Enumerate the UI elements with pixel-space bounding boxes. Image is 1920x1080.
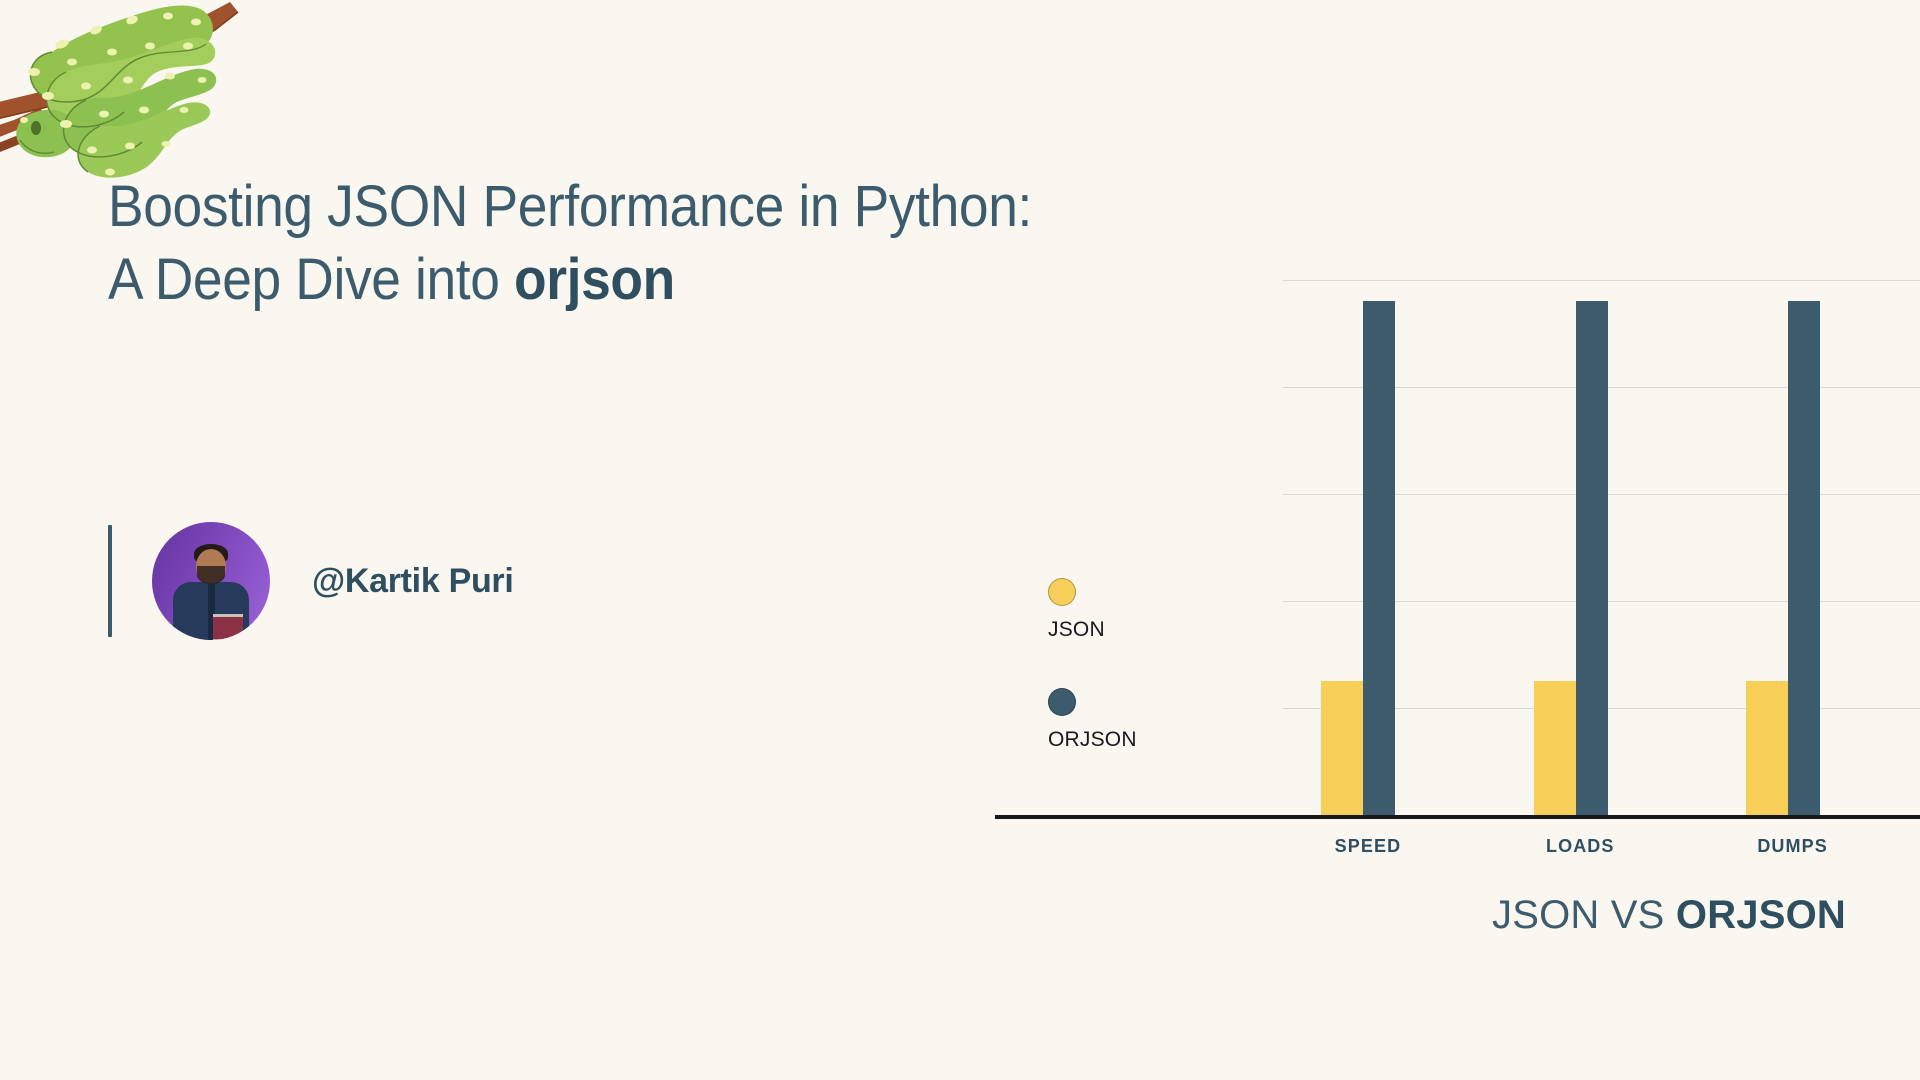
- author-credit: @Kartik Puri: [108, 522, 514, 640]
- chart-x-axis-line: [995, 815, 1920, 819]
- legend-label-orjson: ORJSON: [1048, 728, 1137, 752]
- python-snake-illustration: [0, 0, 300, 180]
- snake-body-shape: [16, 5, 216, 177]
- legend-item-orjson: ORJSON: [1048, 688, 1137, 752]
- bar-orjson-speed: [1363, 301, 1395, 815]
- avatar: [152, 522, 270, 640]
- chart-caption: JSON VS ORJSON: [1492, 893, 1846, 938]
- chart-legend: JSONORJSON: [1048, 578, 1137, 798]
- legend-swatch-json-icon: [1048, 578, 1076, 606]
- title-line-1: Boosting JSON Performance in Python:: [108, 170, 1138, 243]
- bar-json-speed: [1321, 681, 1363, 815]
- bar-group: [1534, 280, 1651, 815]
- title-line-2-prefix: A Deep Dive into: [108, 247, 514, 312]
- legend-item-json: JSON: [1048, 578, 1137, 642]
- x-tick-loads: LOADS: [1546, 836, 1615, 857]
- bar-orjson-loads: [1576, 301, 1608, 815]
- bar-group: [1746, 280, 1863, 815]
- legend-label-json: JSON: [1048, 618, 1137, 642]
- title-line-2: A Deep Dive into orjson: [108, 243, 1138, 316]
- avatar-book-shape: [213, 614, 243, 640]
- chart-bars: [1283, 280, 1920, 815]
- bar-group: [1321, 280, 1438, 815]
- bar-orjson-dumps: [1788, 301, 1820, 815]
- tree-branch-shape: [0, 2, 238, 152]
- bar-json-dumps: [1746, 681, 1788, 815]
- title-line-2-strong: orjson: [514, 247, 675, 312]
- chart-caption-prefix: JSON VS: [1492, 893, 1676, 937]
- bar-json-loads: [1534, 681, 1576, 815]
- avatar-beard-shape: [197, 566, 225, 584]
- accent-rule: [108, 525, 112, 637]
- legend-swatch-orjson-icon: [1048, 688, 1076, 716]
- chart-caption-strong: ORJSON: [1676, 893, 1846, 937]
- x-tick-dumps: DUMPS: [1757, 836, 1828, 857]
- author-handle: @Kartik Puri: [312, 562, 514, 601]
- x-tick-speed: SPEED: [1335, 836, 1402, 857]
